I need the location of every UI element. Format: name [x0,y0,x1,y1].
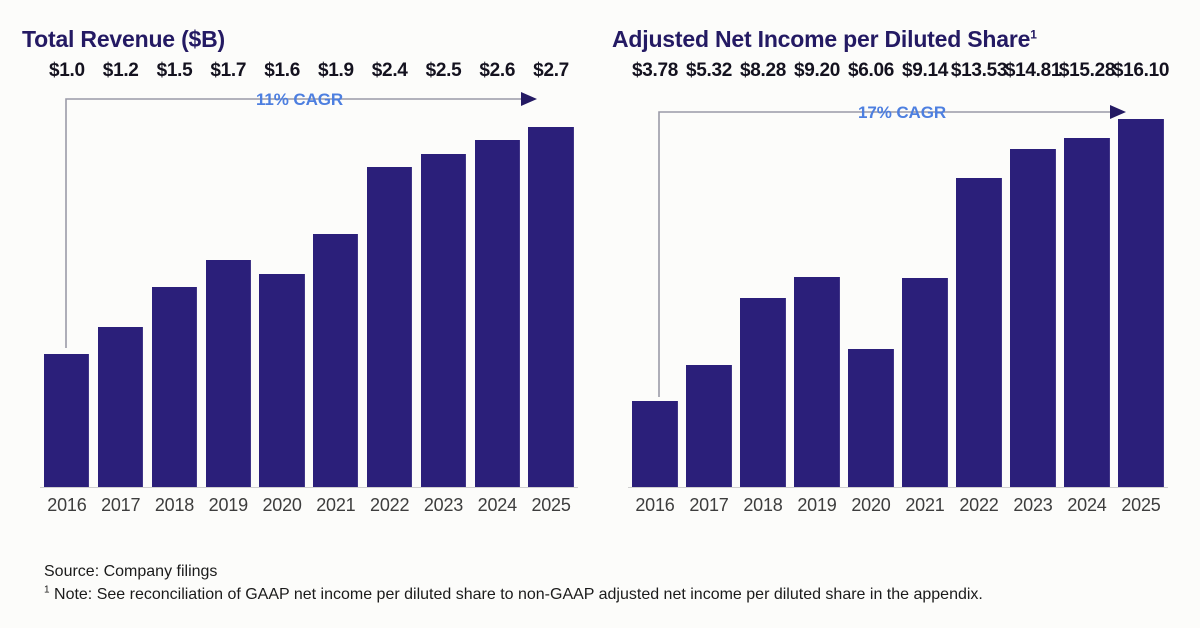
bar-value-label: $6.06 [848,60,894,82]
bar-2023 [421,154,466,487]
bar-value-label: $2.6 [479,60,515,82]
bar-slot: $1.0 [40,87,94,487]
bar-slot: $1.9 [309,87,363,487]
bar-2017 [98,327,143,487]
x-tick-2020: 2020 [255,495,309,525]
x-tick-2021: 2021 [309,495,363,525]
plot-area-total-revenue: 11% CAGR $1.0$1.2$1.5$1.7$1.6$1.9$2.4$2.… [0,0,600,545]
x-tick-2025: 2025 [524,495,578,525]
bar-2023 [1010,149,1055,488]
bar-value-label: $9.20 [794,60,840,82]
bar-slot: $16.10 [1114,87,1168,487]
bar-slot: $15.28 [1060,87,1114,487]
x-tick-2024: 2024 [470,495,524,525]
bar-2020 [848,349,893,488]
x-tick-2020: 2020 [844,495,898,525]
bar-2022 [367,167,412,487]
slide-root: Total Revenue ($B) 11% CAGR $1.0$1.2$1.5… [0,0,1200,628]
plot-area-adjusted-net-income: 17% CAGR $3.78$5.32$8.28$9.20$6.06$9.14$… [600,0,1200,545]
x-tick-2022: 2022 [363,495,417,525]
x-tick-2024: 2024 [1060,495,1114,525]
footnotes-block: Source: Company filings 1 Note: See reco… [44,560,1164,606]
bar-group-adjusted-net-income: $3.78$5.32$8.28$9.20$6.06$9.14$13.53$14.… [628,87,1168,487]
bar-value-label: $5.32 [686,60,732,82]
bar-value-label: $9.14 [902,60,948,82]
bar-slot: $2.5 [417,87,471,487]
bar-2025 [1118,119,1163,487]
bar-value-label: $2.4 [372,60,408,82]
bar-2017 [686,365,731,487]
bar-slot: $9.20 [790,87,844,487]
bar-2018 [152,287,197,487]
bar-value-label: $2.5 [426,60,462,82]
footnote-source: Source: Company filings [44,560,1164,583]
bar-slot: $1.5 [148,87,202,487]
bar-slot: $9.14 [898,87,952,487]
bar-value-label: $14.81 [1005,60,1061,82]
x-tick-2025: 2025 [1114,495,1168,525]
bar-slot: $2.4 [363,87,417,487]
bar-value-label: $1.5 [157,60,193,82]
x-tick-2023: 2023 [417,495,471,525]
bar-2024 [475,140,520,487]
bar-value-label: $8.28 [740,60,786,82]
chart-panel-adjusted-net-income: Adjusted Net Income per Diluted Share1 1… [600,0,1200,545]
x-tick-2019: 2019 [790,495,844,525]
bar-2021 [313,234,358,487]
x-tick-2016: 2016 [40,495,94,525]
bar-2016 [44,354,89,487]
x-tick-2023: 2023 [1006,495,1060,525]
bar-slot: $1.6 [255,87,309,487]
bar-slot: $3.78 [628,87,682,487]
x-tick-2018: 2018 [148,495,202,525]
bar-value-label: $1.9 [318,60,354,82]
x-axis-line-right [628,487,1168,488]
bar-slot: $8.28 [736,87,790,487]
x-tick-2022: 2022 [952,495,1006,525]
bar-slot: $1.7 [201,87,255,487]
x-axis-ticks-left: 2016201720182019202020212022202320242025 [40,495,578,525]
bar-slot: $2.7 [524,87,578,487]
x-axis-ticks-right: 2016201720182019202020212022202320242025 [628,495,1168,525]
x-tick-2021: 2021 [898,495,952,525]
bar-value-label: $1.7 [210,60,246,82]
bar-value-label: $1.0 [49,60,85,82]
x-tick-2017: 2017 [94,495,148,525]
bar-2019 [206,260,251,487]
bar-slot: $13.53 [952,87,1006,487]
bar-value-label: $15.28 [1059,60,1115,82]
bar-2025 [528,127,573,487]
bar-2019 [794,277,839,487]
bar-2024 [1064,138,1109,487]
x-tick-2018: 2018 [736,495,790,525]
x-axis-line-left [40,487,578,488]
bar-slot: $6.06 [844,87,898,487]
bar-slot: $5.32 [682,87,736,487]
bar-value-label: $13.53 [951,60,1007,82]
bar-slot: $14.81 [1006,87,1060,487]
x-tick-2017: 2017 [682,495,736,525]
bar-slot: $2.6 [470,87,524,487]
bar-value-label: $2.7 [533,60,569,82]
footnote-note: 1 Note: See reconciliation of GAAP net i… [44,583,1164,606]
bar-2018 [740,298,785,487]
bar-value-label: $1.6 [264,60,300,82]
bar-value-label: $16.10 [1113,60,1169,82]
footnote-note-text: Note: See reconciliation of GAAP net inc… [50,586,983,603]
chart-panel-total-revenue: Total Revenue ($B) 11% CAGR $1.0$1.2$1.5… [0,0,600,545]
x-tick-2016: 2016 [628,495,682,525]
bar-value-label: $3.78 [632,60,678,82]
x-tick-2019: 2019 [201,495,255,525]
bar-value-label: $1.2 [103,60,139,82]
bar-2021 [902,278,947,487]
bar-2022 [956,178,1001,487]
bar-slot: $1.2 [94,87,148,487]
bar-2016 [632,401,677,487]
bar-2020 [259,274,304,487]
bar-group-total-revenue: $1.0$1.2$1.5$1.7$1.6$1.9$2.4$2.5$2.6$2.7 [40,87,578,487]
